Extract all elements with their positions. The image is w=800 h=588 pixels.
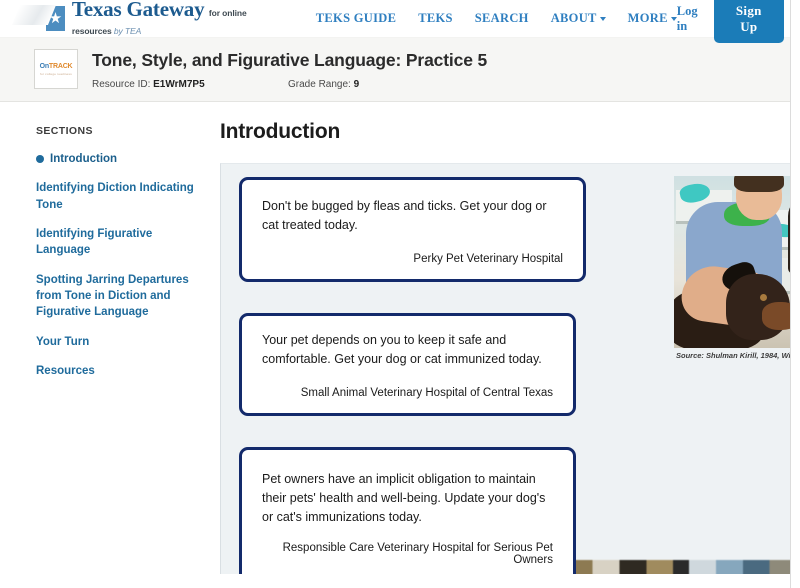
sidebar-item-identifying-diction-indicating-tone[interactable]: Identifying Diction Indicating Tone [36,180,196,213]
ad-attribution-1: Perky Pet Veterinary Hospital [262,253,563,265]
header-actions: Log in Sign Up [677,0,784,43]
figure-caption: Source: Shulman Kirill, 1984, Wikimedia [676,351,800,360]
site-logo[interactable]: ★ Texas Gateway for online resources by … [46,0,258,39]
page-body: SECTIONS Introduction Identifying Dictio… [0,102,800,574]
veterinarian-examining-dachshund-photo [674,176,800,348]
ontrack-logo: OnTRACK [40,63,73,70]
ad-text-3: Pet owners have an implicit obligation t… [262,470,553,528]
sidebar-item-resources[interactable]: Resources [36,363,196,379]
figure-veterinarian: Source: Shulman Kirill, 1984, Wikimedia [674,176,800,360]
signup-button[interactable]: Sign Up [714,0,784,43]
section-title: Introduction [220,120,800,144]
sidebar-item-your-turn[interactable]: Your Turn [36,334,196,350]
nav-item-teks-guide[interactable]: TEKS GUIDE [316,11,396,26]
chevron-down-icon [600,17,606,21]
resource-header: OnTRACK for college readiness Tone, Styl… [0,38,800,102]
logo-title: Texas Gateway [72,0,205,21]
nav-item-about[interactable]: ABOUT [551,11,606,26]
lesson-panel: Source: Shulman Kirill, 1984, Wikimedia … [220,163,800,574]
ad-attribution-3: Responsible Care Veterinary Hospital for… [262,542,553,566]
ad-box-2: Your pet depends on you to keep it safe … [239,313,576,416]
main-content: Introduction [198,102,800,574]
ad-box-3: Pet owners have an implicit obligation t… [239,447,576,575]
sidebar-item-identifying-figurative-language[interactable]: Identifying Figurative Language [36,226,196,259]
sidebar-item-introduction[interactable]: Introduction [36,151,196,167]
ad-attribution-2: Small Animal Veterinary Hospital of Cent… [262,387,553,399]
login-link[interactable]: Log in [677,4,698,34]
resource-meta-row: Resource ID: E1WrM7P5 Grade Range: 9 [92,79,487,90]
logo-text-block: Texas Gateway for online resources by TE… [72,0,258,39]
nav-item-search[interactable]: SEARCH [475,11,529,26]
resource-meta: Tone, Style, and Figurative Language: Pr… [92,49,487,90]
ad-box-1: Don't be bugged by fleas and ticks. Get … [239,177,586,282]
ad-text-1: Don't be bugged by fleas and ticks. Get … [262,197,563,236]
nav-item-teks[interactable]: TEKS [418,11,453,26]
page-scroll-gutter[interactable] [790,0,800,588]
grade-range-field: Grade Range: 9 [288,79,359,90]
main-nav: TEKS GUIDE TEKS SEARCH ABOUT MORE [316,11,677,26]
ad-text-2: Your pet depends on you to keep it safe … [262,331,553,370]
sidebar-item-spotting-jarring-departures[interactable]: Spotting Jarring Departures from Tone in… [36,272,196,321]
sidebar-heading: SECTIONS [36,125,198,137]
nav-item-more[interactable]: MORE [628,11,677,26]
sections-sidebar: SECTIONS Introduction Identifying Dictio… [0,102,198,574]
page-title: Tone, Style, and Figurative Language: Pr… [92,50,487,71]
ontrack-logo-sub: for college readiness [40,72,72,76]
ontrack-thumbnail: OnTRACK for college readiness [34,49,78,89]
resource-id-field: Resource ID: E1WrM7P5 [92,79,288,90]
site-header: ★ Texas Gateway for online resources by … [0,0,800,37]
